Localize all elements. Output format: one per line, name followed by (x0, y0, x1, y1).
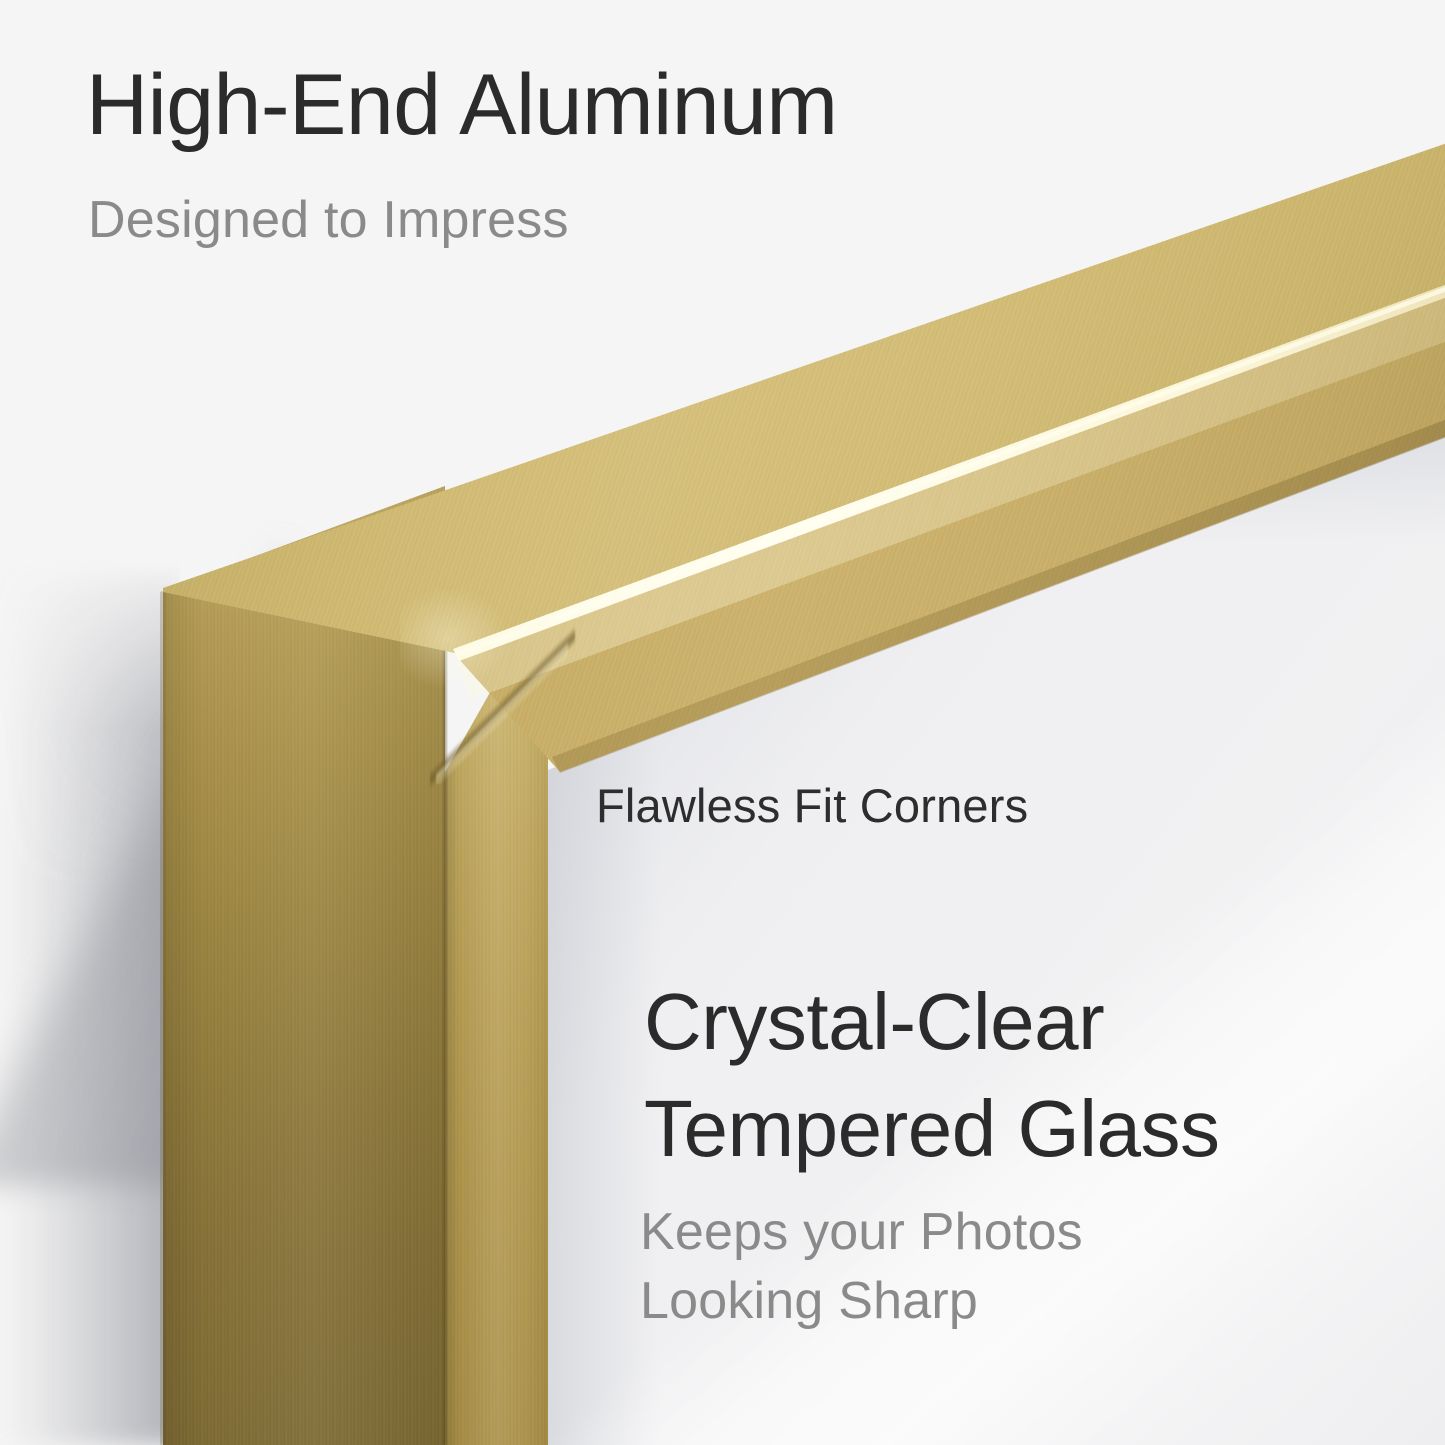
frame-left-outer-edge (160, 486, 168, 1445)
feature-title: Crystal-Clear Tempered Glass (644, 968, 1219, 1182)
frame-left-rail-seam (442, 588, 448, 1445)
product-feature-graphic: High-End Aluminum Designed to Impress Fl… (0, 0, 1445, 1445)
feature-subtitle: Keeps your Photos Looking Sharp (640, 1198, 1083, 1336)
callout-flawless-fit-corners: Flawless Fit Corners (596, 782, 1028, 829)
page-title: High-End Aluminum (86, 62, 838, 148)
page-subtitle: Designed to Impress (88, 194, 569, 246)
